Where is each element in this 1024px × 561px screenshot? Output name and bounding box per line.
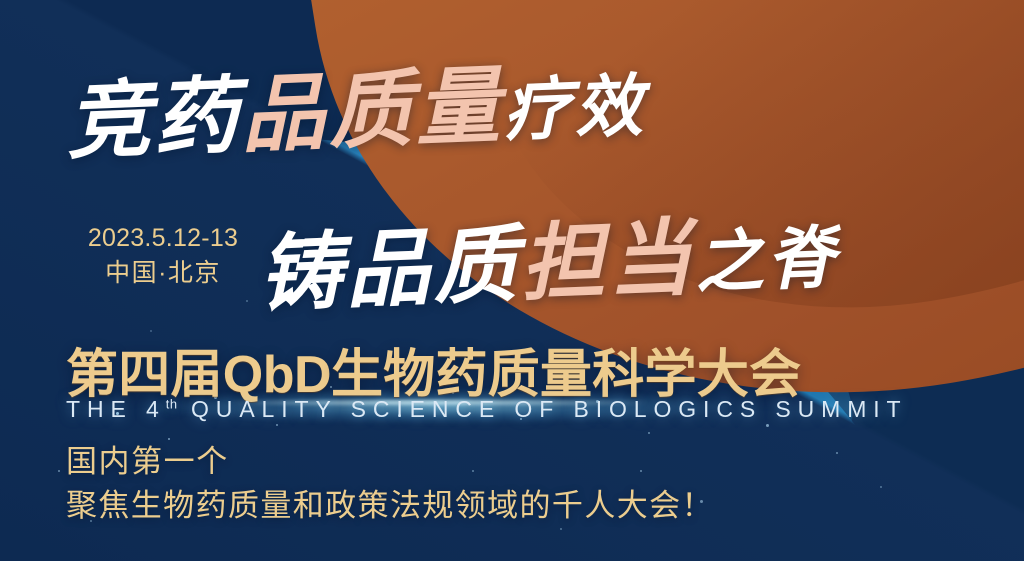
conference-poster: 竞药品质量疗效 铸品质担当之脊 2023.5.12-13 中国·北京 第四届Qb… — [0, 0, 1024, 561]
event-location: 中国·北京 — [68, 257, 258, 290]
subtitle-before: THE 4 — [66, 396, 166, 422]
event-info-block: 2023.5.12-13 中国·北京 — [68, 222, 258, 290]
tagline-line-1: 国内第一个 — [66, 440, 714, 484]
headline-line-1-highlight: 品质量 — [239, 55, 505, 164]
subtitle-after: QUALITY SCIENCE OF BIOLOGICS SUMMIT — [191, 396, 907, 422]
headline-line-2: 铸品质担当之脊 — [256, 185, 840, 328]
headline-line-1: 竞药品质量疗效 — [64, 33, 648, 176]
headline-line-1-part1: 竞药 — [65, 65, 243, 171]
tagline-block: 国内第一个 聚焦生物药质量和政策法规领域的千人大会！ — [66, 440, 714, 528]
headline-line-2-part2: 之脊 — [694, 218, 840, 303]
headline-line-1-part2: 疗效 — [502, 66, 648, 151]
subtitle-ordinal: th — [166, 396, 178, 411]
event-date: 2023.5.12-13 — [68, 222, 258, 255]
headline-line-2-highlight: 担当 — [518, 207, 696, 313]
tagline-line-2: 聚焦生物药质量和政策法规领域的千人大会！ — [66, 484, 714, 528]
subtitle-english: THE 4th QUALITY SCIENCE OF BIOLOGICS SUM… — [66, 396, 908, 423]
headline-line-2-part1: 铸品质 — [257, 214, 523, 323]
